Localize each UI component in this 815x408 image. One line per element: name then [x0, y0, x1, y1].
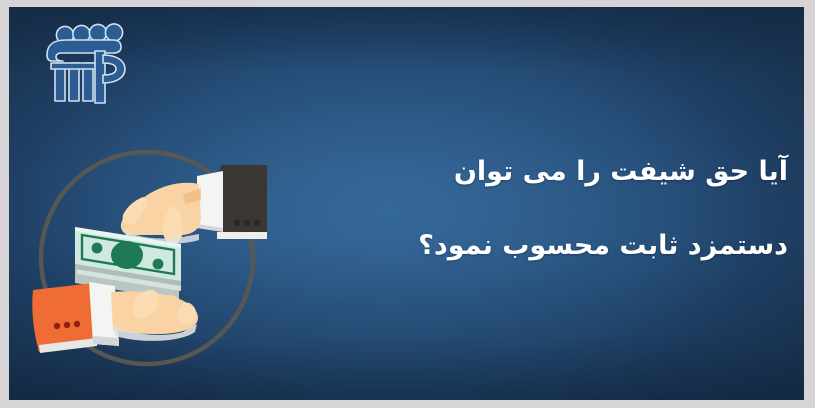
- banner-canvas: آیا حق شیفت را می توان دستمزد ثابت محسوب…: [9, 7, 804, 400]
- tip-calligraphy-logo: [29, 11, 129, 109]
- money-handover-illustration: [31, 140, 271, 385]
- headline-line-1: آیا حق شیفت را می توان: [338, 135, 788, 209]
- dark-sleeve-cuff: [197, 171, 223, 232]
- headline-block: آیا حق شیفت را می توان دستمزد ثابت محسوب…: [338, 135, 788, 283]
- dark-sleeve: [217, 165, 267, 239]
- banner-image: آیا حق شیفت را می توان دستمزد ثابت محسوب…: [0, 0, 815, 408]
- lower-hand: [111, 290, 198, 341]
- orange-sleeve: [32, 283, 97, 353]
- upper-hand: [121, 183, 201, 244]
- headline-line-2: دستمزد ثابت محسوب نمود؟: [338, 209, 788, 283]
